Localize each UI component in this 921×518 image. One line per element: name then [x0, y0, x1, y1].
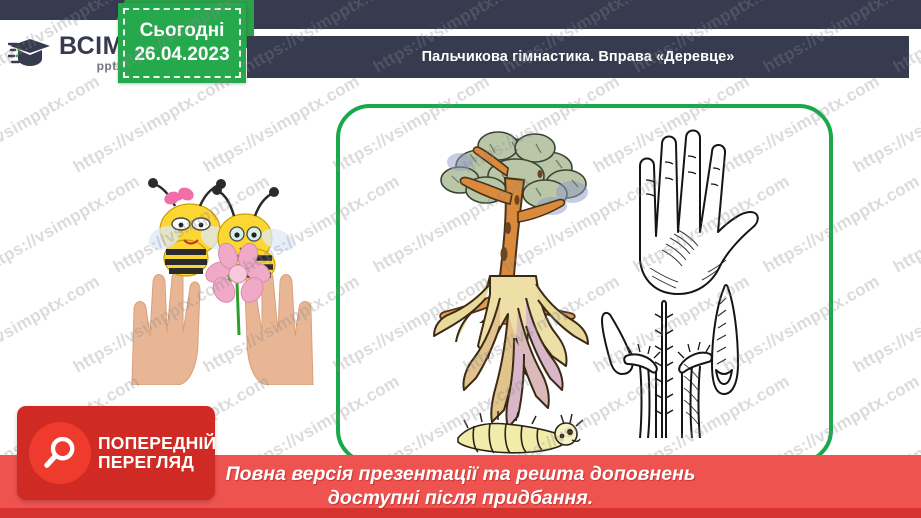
fingers-down-hands-illustration — [602, 285, 738, 438]
caterpillar-illustration — [458, 411, 583, 453]
date-badge-label: Сьогодні — [140, 19, 225, 43]
brand-logo[interactable]: ВСІМ pptx — [8, 28, 120, 78]
preview-badge-line-1: ПОПЕРЕДНІЙ — [98, 434, 216, 453]
banner-line-1: Повна версія презентації та решта доповн… — [226, 463, 696, 487]
watermark-text: https://vsimpptx.com — [0, 72, 103, 178]
preview-badge[interactable]: ПОПЕРЕДНІЙ ПЕРЕГЛЯД — [17, 406, 215, 500]
panel-illustrations — [340, 108, 829, 460]
open-hand-illustration — [640, 131, 758, 295]
logo-primary-text: ВСІМ — [59, 34, 124, 59]
date-badge: Сьогодні 26.04.2023 — [118, 3, 246, 83]
logo-secondary-text: pptx — [59, 60, 124, 72]
preview-badge-text: ПОПЕРЕДНІЙ ПЕРЕГЛЯД — [98, 434, 216, 471]
roots-illustration — [434, 276, 588, 428]
magnifier-icon — [29, 422, 91, 484]
watermark-text: https://vsimpptx.com — [0, 272, 103, 378]
date-badge-value: 26.04.2023 — [134, 43, 229, 67]
preview-badge-line-2: ПЕРЕГЛЯД — [98, 453, 216, 472]
banner-line-2: доступні після придбання. — [328, 487, 593, 511]
watermark-text: https://vsimpptx.com — [850, 72, 921, 178]
logo-wordmark: ВСІМ pptx — [59, 34, 124, 72]
page-title: Пальчикова гімнастика. Вправа «Деревце» — [422, 49, 735, 65]
bees-and-hands-illustration — [120, 160, 325, 385]
watermark-text: https://vsimpptx.com — [850, 272, 921, 378]
slide: ВСІМ pptx Сьогодні 26.04.2023 Пальчикова… — [0, 0, 921, 518]
watermark-text: https://vsimpptx.com — [890, 172, 921, 278]
banner-bottom-strip — [0, 508, 921, 518]
graduation-cap-icon — [8, 33, 54, 73]
slide-title-bar: Пальчикова гімнастика. Вправа «Деревце» — [247, 36, 909, 78]
